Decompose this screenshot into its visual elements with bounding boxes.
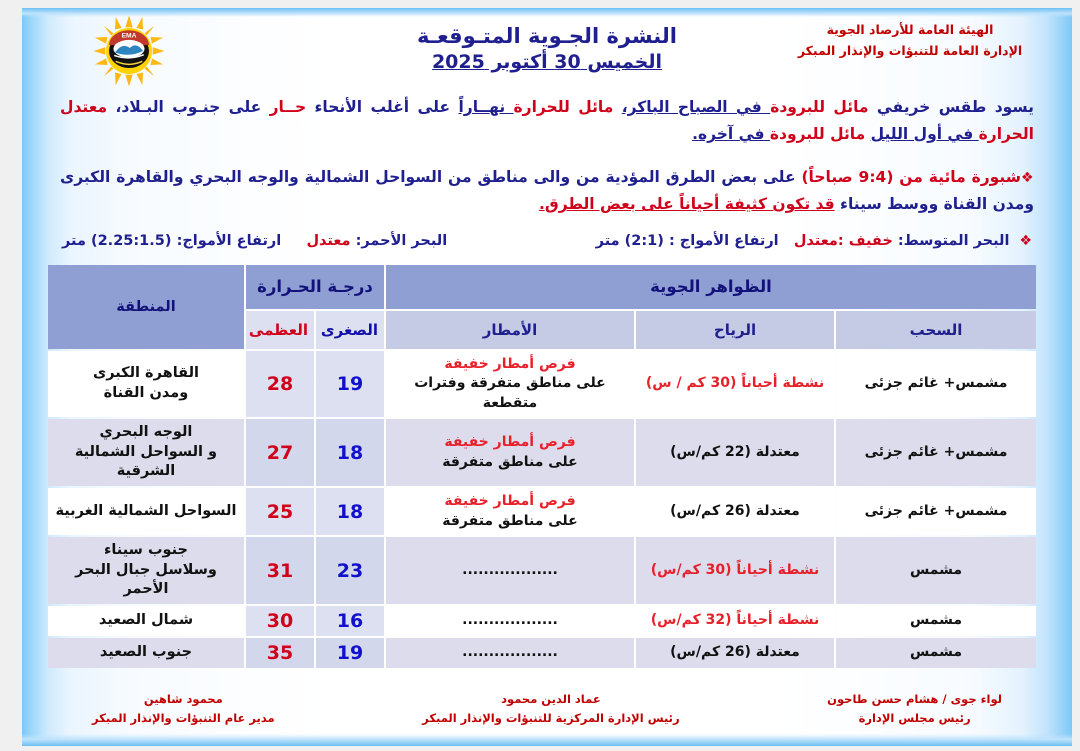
p1-s8: على جنـوب البـلاد، [115,98,269,116]
rain-detail: على مناطق متفرقة وفترات متقطعة [392,374,628,413]
signature-name: لواء جوى / هشام حسن طاحون [827,690,1002,710]
cell-temp-max: 31 [246,537,314,604]
region-line: الوجه البحري [54,423,238,443]
table-row: مشمسمعتدلة (26 كم/س)..................19… [48,638,1036,668]
rain-none-dots: .................. [392,611,628,631]
cell-region: جنوب سيناءوسلاسل جبال البحر الأحمر [48,537,244,604]
cell-region: جنوب الصعيد [48,638,244,668]
forecast-table: الظواهر الجوية درجـة الحـرارة المنطقة ال… [46,263,1038,670]
rain-none-dots: .................. [392,643,628,663]
cell-rain: .................. [386,606,634,636]
p1-s3: في الصباح الباكر، [622,98,771,116]
header-wind: الرياح [636,311,834,349]
cell-clouds: مشمس [836,606,1036,636]
cell-temp-max: 27 [246,419,314,486]
cell-region: الوجه البحريو السواحل الشمالية الشرقية [48,419,244,486]
mediterranean-state: خفيف :معتدل [794,233,893,249]
cell-temp-min: 19 [316,638,384,668]
p1-s1: يسود طقس خريفي [868,98,1034,116]
cell-clouds: مشمس+ غائم جزئى [836,351,1036,418]
table-row: مشمسنشطة أحياناً (32 كم/س)..............… [48,606,1036,636]
sea-conditions-row: ❖ البحر المتوسط: خفيف :معتدل ارتفاع الأم… [56,233,1038,249]
page-title: النشرة الجـوية المتـوقعـة [56,24,1038,48]
signature-title: رئيس مجلس الإدارة [827,709,1002,729]
region-line: السواحل الشمالية الغربية [54,502,238,522]
cell-rain: .................. [386,537,634,604]
cell-clouds: مشمس [836,638,1036,668]
cell-temp-max: 28 [246,351,314,418]
p2-s1: شبورة مائية من (9:4 صباحاً) [801,168,1020,186]
mediterranean-waves-value: (2:1) متر [596,233,664,249]
region-line: القاهرة الكبرى [54,364,238,384]
signature-footer: لواء جوى / هشام حسن طاحون رئيس مجلس الإد… [56,690,1038,729]
red-sea-waves-value: (2.25:1.5) متر [62,233,172,249]
cell-wind: نشطة أحياناً (32 كم/س) [636,606,834,636]
red-sea-label: البحر الأحمر: [356,233,448,249]
region-line: وسلاسل جبال البحر الأحمر [54,561,238,600]
cell-region: السواحل الشمالية الغربية [48,488,244,535]
forecast-paragraph-general: يسود طقس خريفي مائل للبرودة في الصباح ال… [60,94,1034,148]
p1-s11: مائل للبرودة [770,125,871,143]
signature-title: رئيس الإدارة المركزية للتنبؤات والإنذار … [422,709,679,729]
cell-temp-max: 25 [246,488,314,535]
header-region: المنطقة [48,265,244,349]
rain-detail: على مناطق متفرقة [392,453,628,473]
region-line: ومدن القناة [54,384,238,404]
cell-wind: معتدلة (26 كم/س) [636,488,834,535]
region-line: جنوب الصعيد [54,643,238,663]
bulletin-header: EMA الهيئة العامة للأرصاد الجوية الإدارة… [56,8,1038,90]
table-header-row-top: الظواهر الجوية درجـة الحـرارة المنطقة [48,265,1036,309]
bulletin-date: الخميس 30 أكتوبر 2025 [56,51,1038,73]
p1-s7: حــار [270,98,307,116]
red-sea-waves-label: ارتفاع الأمواج: [177,233,282,249]
cell-temp-min: 18 [316,488,384,535]
title-block: النشرة الجـوية المتـوقعـة الخميس 30 أكتو… [56,24,1038,73]
header-rain: الأمطار [386,311,634,349]
cell-temp-min: 18 [316,419,384,486]
diamond-bullet-icon-sea: ❖ [1019,233,1032,249]
cell-rain: .................. [386,638,634,668]
rain-headline: فرص أمطار خفيفة [392,355,628,375]
p1-s10: في أول الليل [871,125,979,143]
region-line: شمال الصعيد [54,611,238,631]
cell-clouds: مشمس+ غائم جزئى [836,488,1036,535]
table-row: مشمس+ غائم جزئىمعتدلة (22 كم/س)فرص أمطار… [48,419,1036,486]
red-sea-block: البحر الأحمر: معتدل ارتفاع الأمواج: (2.2… [62,233,447,249]
cell-rain: فرص أمطار خفيفةعلى مناطق متفرقة [386,488,634,535]
cell-temp-max: 35 [246,638,314,668]
signature-name: عماد الدين محمود [422,690,679,710]
rain-detail: على مناطق متفرقة [392,512,628,532]
cell-wind: نشطة أحياناً (30 كم/س) [636,537,834,604]
header-temperature: درجـة الحـرارة [246,265,384,309]
rain-headline: فرص أمطار خفيفة [392,433,628,453]
cell-temp-max: 30 [246,606,314,636]
cell-rain: فرص أمطار خفيفةعلى مناطق متفرقة [386,419,634,486]
cell-temp-min: 16 [316,606,384,636]
cell-clouds: مشمس+ غائم جزئى [836,419,1036,486]
region-line: و السواحل الشمالية الشرقية [54,443,238,482]
header-temp-max: العظمى [246,311,314,349]
cell-region: القاهرة الكبرىومدن القناة [48,351,244,418]
cell-clouds: مشمس [836,537,1036,604]
p1-s5: نهــاراً [458,98,513,116]
bulletin-page: EMA الهيئة العامة للأرصاد الجوية الإدارة… [22,8,1072,746]
header-temp-min: الصغرى [316,311,384,349]
signature-central-head: عماد الدين محمود رئيس الإدارة المركزية ل… [422,690,679,729]
p1-s4: مائل للحرارة [514,98,622,116]
cell-rain: فرص أمطار خفيفةعلى مناطق متفرقة وفترات م… [386,351,634,418]
p1-s12: في آخره. [692,125,770,143]
rain-headline: فرص أمطار خفيفة [392,492,628,512]
header-clouds: السحب [836,311,1036,349]
signature-name: محمود شاهين [92,690,275,710]
cell-wind: معتدلة (22 كم/س) [636,419,834,486]
red-sea-state: معتدل [306,233,350,249]
signature-title: مدير عام التنبؤات والإنذار المبكر [92,709,275,729]
mediterranean-block: البحر المتوسط: خفيف :معتدل ارتفاع الأموا… [596,233,1010,249]
table-row: مشمس+ غائم جزئىمعتدلة (26 كم/س)فرص أمطار… [48,488,1036,535]
p1-s6: على أغلب الأنحاء [306,98,458,116]
p2-s3: قد تكون كثيفة أحياناً على بعض الطرق. [539,195,835,213]
cell-region: شمال الصعيد [48,606,244,636]
region-line: جنوب سيناء [54,541,238,561]
cell-temp-min: 19 [316,351,384,418]
rain-none-dots: .................. [392,561,628,581]
table-row: مشمس+ غائم جزئىنشطة أحياناً (30 كم / س)ف… [48,351,1036,418]
diamond-bullet-icon: ❖ [1021,170,1034,186]
header-phenomena: الظواهر الجوية [386,265,1036,309]
mediterranean-label: البحر المتوسط: [898,233,1010,249]
table-row: مشمسنشطة أحياناً (30 كم/س)..............… [48,537,1036,604]
forecast-paragraph-fog: ❖شبورة مائية من (9:4 صباحاً) على بعض الط… [60,164,1034,218]
signature-board-chairman: لواء جوى / هشام حسن طاحون رئيس مجلس الإد… [827,690,1002,729]
cell-wind: نشطة أحياناً (30 كم / س) [636,351,834,418]
cell-temp-min: 23 [316,537,384,604]
p1-s2: مائل للبرودة [770,98,868,116]
mediterranean-waves-label: ارتفاع الأمواج : [669,233,779,249]
cell-wind: معتدلة (26 كم/س) [636,638,834,668]
signature-forecast-director: محمود شاهين مدير عام التنبؤات والإنذار ا… [92,690,275,729]
